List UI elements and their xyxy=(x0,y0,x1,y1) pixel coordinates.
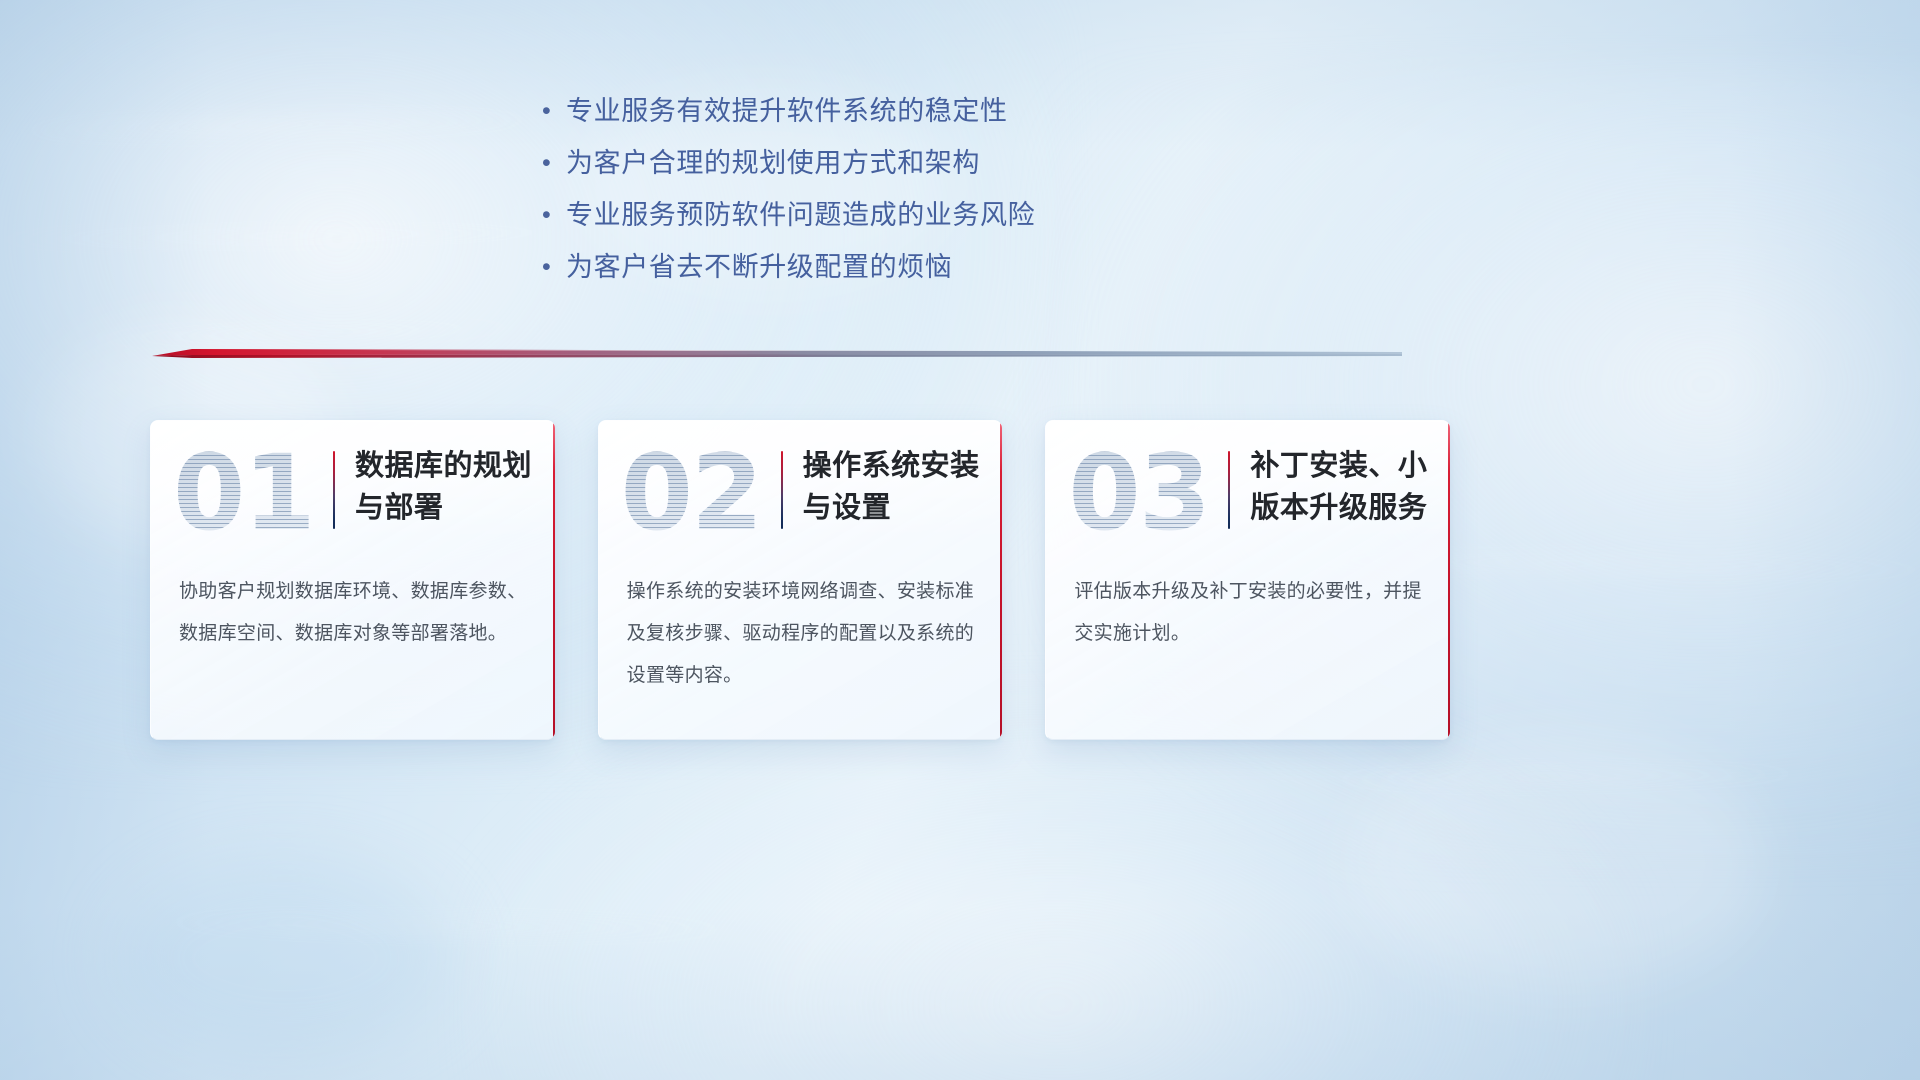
card-title-rule-icon xyxy=(781,451,783,529)
service-card[interactable]: 02 操作系统安装与设置 操作系统的安装环境网络调查、安装标准及复核步骤、驱动程… xyxy=(598,420,1003,740)
service-card[interactable]: 03 补丁安装、小版本升级服务 评估版本升级及补丁安装的必要性，并提交实施计划。 xyxy=(1045,420,1450,740)
card-title: 操作系统安装与设置 xyxy=(803,445,1003,529)
card-header: 操作系统安装与设置 xyxy=(781,445,1003,529)
card-description: 评估版本升级及补丁安装的必要性，并提交实施计划。 xyxy=(1074,571,1426,655)
slide-canvas: • 专业服务有效提升软件系统的稳定性 • 为客户合理的规划使用方式和架构 • 专… xyxy=(0,0,1920,1080)
list-item: • 为客户省去不断升级配置的烦恼 xyxy=(540,248,1400,300)
list-item: • 为客户合理的规划使用方式和架构 xyxy=(540,144,1400,196)
bullet-dot-icon: • xyxy=(540,196,566,234)
service-card-list: 01 数据库的规划与部署 协助客户规划数据库环境、数据库参数、数据库空间、数据库… xyxy=(150,420,1450,745)
bullet-dot-icon: • xyxy=(540,248,566,286)
bullet-text: 为客户合理的规划使用方式和架构 xyxy=(566,144,980,182)
card-title-rule-icon xyxy=(1228,451,1230,529)
benefits-bullet-list: • 专业服务有效提升软件系统的稳定性 • 为客户合理的规划使用方式和架构 • 专… xyxy=(540,92,1400,300)
bullet-text: 专业服务预防软件问题造成的业务风险 xyxy=(566,196,1035,234)
card-title: 补丁安装、小版本升级服务 xyxy=(1250,445,1450,529)
card-header: 补丁安装、小版本升级服务 xyxy=(1228,445,1450,529)
service-card[interactable]: 01 数据库的规划与部署 协助客户规划数据库环境、数据库参数、数据库空间、数据库… xyxy=(150,420,555,740)
card-header: 数据库的规划与部署 xyxy=(333,445,555,529)
card-watermark-number: 02 xyxy=(621,439,761,547)
card-watermark-number: 01 xyxy=(173,439,313,547)
card-description: 操作系统的安装环境网络调查、安装标准及复核步骤、驱动程序的配置以及系统的设置等内… xyxy=(627,571,979,697)
card-title: 数据库的规划与部署 xyxy=(355,445,555,529)
list-item: • 专业服务有效提升软件系统的稳定性 xyxy=(540,92,1400,144)
card-title-rule-icon xyxy=(333,451,335,529)
list-item: • 专业服务预防软件问题造成的业务风险 xyxy=(540,196,1400,248)
bullet-text: 专业服务有效提升软件系统的稳定性 xyxy=(566,92,1008,130)
card-description: 协助客户规划数据库环境、数据库参数、数据库空间、数据库对象等部署落地。 xyxy=(179,571,531,655)
bullet-dot-icon: • xyxy=(540,92,566,130)
bullet-text: 为客户省去不断升级配置的烦恼 xyxy=(566,248,952,286)
bullet-dot-icon: • xyxy=(540,144,566,182)
card-watermark-number: 03 xyxy=(1068,439,1208,547)
